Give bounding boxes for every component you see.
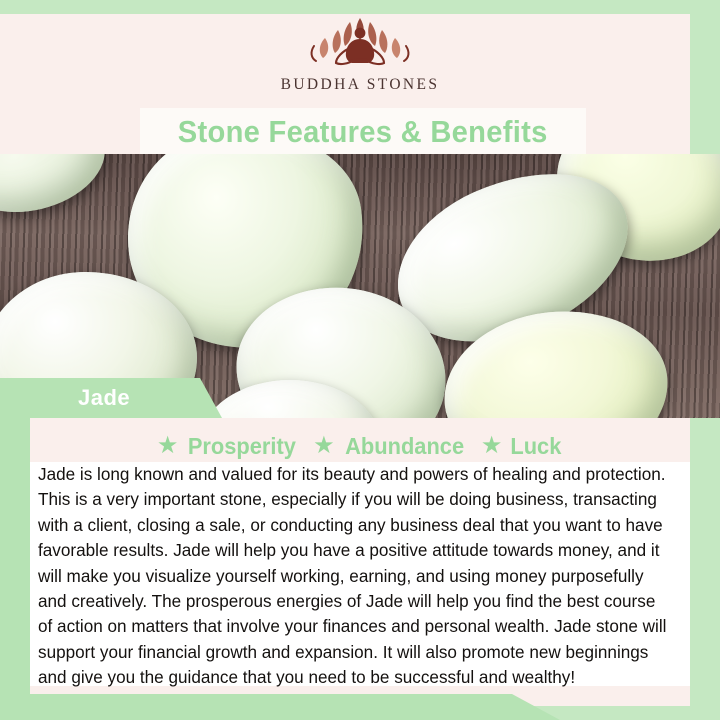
benefit-item: ★ Prosperity	[157, 433, 299, 460]
page-title: Stone Features & Benefits	[178, 114, 548, 150]
brand-logo: BUDDHA STONES	[0, 12, 720, 110]
stone-name: Jade	[78, 385, 130, 411]
title-banner: Stone Features & Benefits	[140, 108, 586, 156]
lotus-meditation-figure-icon	[298, 12, 422, 74]
star-icon: ★	[481, 434, 503, 458]
stone-name-band: Jade	[0, 378, 222, 418]
benefits-row: ★ Prosperity ★ Abundance ★ Luck	[30, 430, 690, 462]
bottom-accent-bar	[0, 694, 560, 720]
description-text: Jade is long known and valued for its be…	[38, 462, 672, 691]
star-icon: ★	[313, 434, 335, 458]
benefit-item: ★ Luck	[481, 433, 563, 460]
benefit-label: Prosperity	[188, 433, 296, 460]
benefit-label: Abundance	[345, 433, 464, 460]
benefit-label: Luck	[511, 433, 562, 460]
description-card: Jade is long known and valued for its be…	[30, 462, 690, 686]
brand-name: BUDDHA STONES	[281, 76, 440, 94]
stone-info-card: BUDDHA STONES Stone Features & Benefits …	[0, 0, 720, 720]
benefit-item: ★ Abundance	[313, 433, 467, 460]
star-icon: ★	[157, 434, 179, 458]
